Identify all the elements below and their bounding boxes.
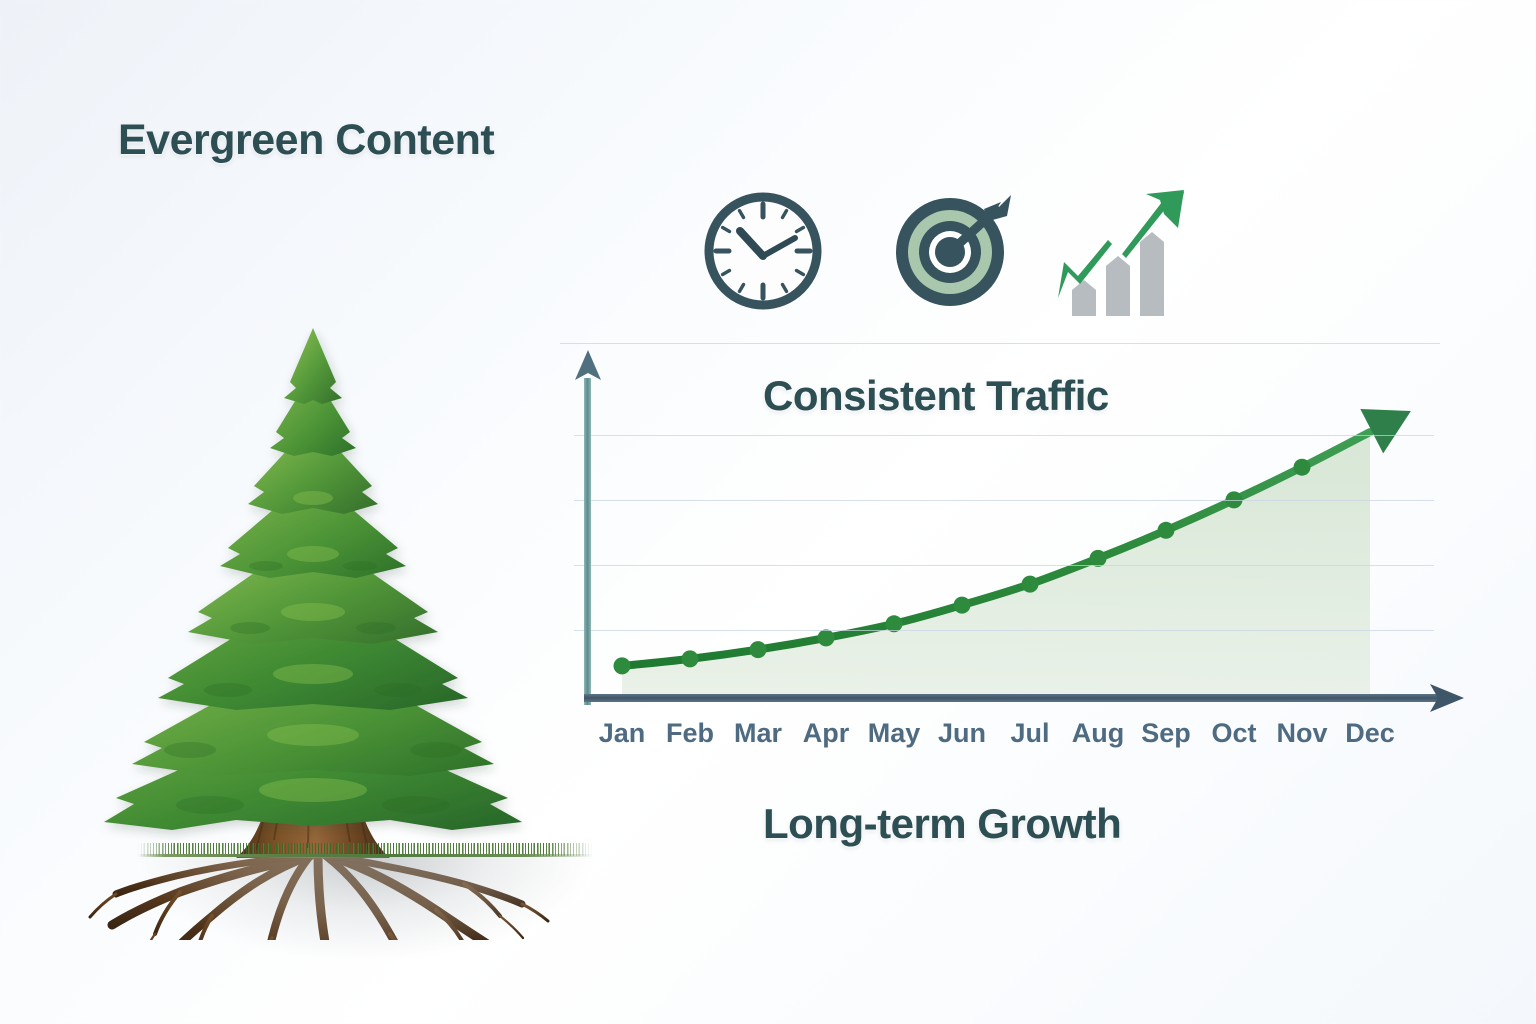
chart-data-point[interactable] xyxy=(1158,522,1175,539)
evergreen-tree-illustration xyxy=(60,150,560,940)
gridline xyxy=(574,500,1434,501)
growth-icon-svg xyxy=(1050,186,1190,326)
growth-icon xyxy=(1050,186,1180,316)
clock-icon-svg xyxy=(698,186,828,316)
gridline xyxy=(574,630,1434,631)
x-axis-label-sep: Sep xyxy=(1141,718,1191,749)
chart-data-point[interactable] xyxy=(954,597,971,614)
chart-data-point[interactable] xyxy=(682,650,699,667)
chart-data-point[interactable] xyxy=(818,629,835,646)
traffic-chart xyxy=(560,330,1460,730)
y-axis-arrow-icon xyxy=(568,348,608,388)
icon-row xyxy=(690,186,1210,326)
gridline xyxy=(574,565,1434,566)
target-icon xyxy=(888,186,1018,316)
gridline xyxy=(574,435,1434,436)
x-axis-arrow-icon xyxy=(1422,678,1466,718)
chart-plot xyxy=(560,330,1460,730)
footer-title: Long-term Growth xyxy=(763,800,1121,848)
target-icon-svg xyxy=(888,186,1018,316)
ground-line xyxy=(138,854,593,857)
tree-svg xyxy=(60,150,560,940)
x-axis-label-jan: Jan xyxy=(599,718,646,749)
x-axis-label-oct: Oct xyxy=(1211,718,1256,749)
soil-layer xyxy=(120,856,610,1024)
chart-data-point[interactable] xyxy=(750,641,767,658)
infographic-canvas: Evergreen Content xyxy=(0,0,1536,1024)
x-axis-label-dec: Dec xyxy=(1345,718,1395,749)
x-axis-label-apr: Apr xyxy=(803,718,850,749)
x-axis-label-mar: Mar xyxy=(734,718,782,749)
x-axis xyxy=(584,694,1440,702)
gridline xyxy=(560,343,1440,344)
chart-data-point[interactable] xyxy=(1294,459,1311,476)
tree-foliage xyxy=(104,328,522,830)
chart-data-point[interactable] xyxy=(1022,576,1039,593)
chart-data-point[interactable] xyxy=(614,657,631,674)
x-axis-label-aug: Aug xyxy=(1072,718,1124,749)
x-axis-label-nov: Nov xyxy=(1276,718,1327,749)
clock-icon xyxy=(698,186,828,316)
y-axis xyxy=(584,378,591,705)
x-axis-labels: JanFebMarAprMayJunJulAugSepOctNovDec xyxy=(560,718,1440,762)
x-axis-label-jun: Jun xyxy=(938,718,986,749)
x-axis-label-may: May xyxy=(868,718,921,749)
x-axis-label-feb: Feb xyxy=(666,718,714,749)
x-axis-label-jul: Jul xyxy=(1010,718,1049,749)
